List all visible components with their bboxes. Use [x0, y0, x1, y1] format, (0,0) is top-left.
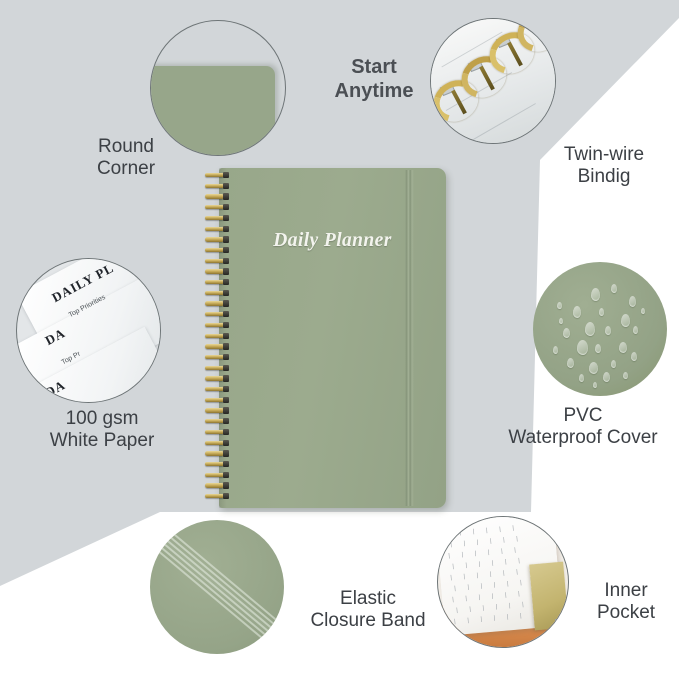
spiral-coil-wire	[205, 312, 224, 316]
spiral-coil-clip	[223, 482, 229, 488]
spiral-coil	[205, 354, 231, 361]
page-grid-row: | | | | | |	[452, 558, 525, 570]
spiral-coil-clip	[223, 322, 229, 328]
spiral-coil-clip	[223, 365, 229, 371]
spiral-coil-wire	[205, 227, 224, 231]
water-droplet-icon	[557, 302, 562, 309]
spiral-coil-wire	[205, 280, 224, 284]
spiral-coil-clip	[223, 183, 229, 189]
page-grid-row: | | | | | |	[450, 536, 523, 548]
spiral-coil-clip	[223, 226, 229, 232]
water-droplet-icon	[559, 318, 563, 324]
water-droplet-icon	[641, 308, 645, 314]
spiral-coil-wire	[205, 387, 224, 391]
label-elastic-closure-band: Elastic Closure Band	[290, 588, 446, 633]
spiral-coil	[205, 333, 231, 340]
water-droplet-icon	[629, 296, 636, 307]
spiral-coil-wire	[205, 398, 224, 402]
water-droplet-icon	[573, 306, 581, 318]
water-droplet-icon	[611, 284, 617, 293]
page-grid-row: | | | | | |	[448, 547, 521, 559]
spiral-coil	[205, 300, 231, 307]
spiral-coil-wire	[205, 344, 224, 348]
spiral-coil-clip	[223, 493, 229, 499]
inner-pocket-inset: | | | | | || | | | | || | | | | || | | |…	[437, 516, 569, 648]
spiral-coil	[205, 397, 231, 404]
spiral-coil-clip	[223, 354, 229, 360]
spiral-coil	[205, 418, 231, 425]
product-feature-infographic: Daily Planner Round Corner Start Anytime…	[0, 0, 679, 674]
spiral-coil	[205, 472, 231, 479]
planner-notebook: Daily Planner	[205, 168, 446, 508]
spiral-coil-wire	[205, 334, 224, 338]
water-droplet-icon	[567, 358, 574, 368]
spiral-coil-wire	[205, 408, 224, 412]
spiral-coil-clip	[223, 343, 229, 349]
spiral-coil-clip	[223, 247, 229, 253]
water-droplet-icon	[631, 352, 637, 361]
spiral-coil	[205, 268, 231, 275]
spiral-coil-wire	[205, 291, 224, 295]
water-droplet-icon	[605, 326, 611, 335]
label-twin-wire-binding: Twin-wire Bindig	[536, 144, 672, 189]
pvc-waterproof-inset	[533, 262, 667, 396]
spiral-coil-clip	[223, 268, 229, 274]
spiral-coil-wire	[205, 194, 224, 198]
spiral-coil-wire	[205, 323, 224, 327]
spiral-coil-clip	[223, 333, 229, 339]
spiral-coil	[205, 258, 231, 265]
spiral-coil	[205, 493, 231, 500]
spiral-coil	[205, 482, 231, 489]
spiral-coil-wire	[205, 366, 224, 370]
spiral-coil	[205, 365, 231, 372]
spiral-coil-wire	[205, 205, 224, 209]
spiral-coil-wire	[205, 376, 224, 380]
spiral-coil-wire	[205, 301, 224, 305]
spiral-coil-wire	[205, 473, 224, 477]
spiral-coil-clip	[223, 407, 229, 413]
spiral-coil-wire	[205, 430, 224, 434]
spiral-coil-clip	[223, 375, 229, 381]
water-droplet-icon	[611, 360, 616, 368]
water-droplet-icon	[553, 346, 558, 354]
label-inner-pocket: Inner Pocket	[576, 580, 676, 625]
water-droplet-icon	[621, 314, 630, 327]
spiral-coil-wire	[205, 216, 224, 220]
spiral-coil-clip	[223, 418, 229, 424]
label-start-anytime: Start Anytime	[318, 56, 430, 103]
water-droplet-icon	[599, 308, 604, 316]
notebook-elastic-band	[405, 170, 414, 506]
label-round-corner: Round Corner	[66, 136, 186, 181]
page-grid-row: | | | | | |	[446, 525, 519, 537]
spiral-coil-clip	[223, 461, 229, 467]
spiral-coil-clip	[223, 429, 229, 435]
spiral-coil-clip	[223, 172, 229, 178]
page-grid-row: | | | | | |	[452, 591, 525, 603]
water-droplet-icon	[623, 372, 628, 379]
water-droplet-icon	[579, 374, 584, 382]
spiral-coil-wire	[205, 184, 224, 188]
spiral-coil-clip	[223, 397, 229, 403]
spiral-coil-clip	[223, 279, 229, 285]
water-droplet-icon	[591, 288, 600, 301]
spiral-coil-wire	[205, 419, 224, 423]
label-white-paper: 100 gsm White Paper	[18, 408, 186, 453]
spiral-coil	[205, 236, 231, 243]
spiral-coil	[205, 172, 231, 179]
spiral-coil-wire	[205, 494, 224, 498]
spiral-coil-wire	[205, 259, 224, 263]
spiral-coil	[205, 386, 231, 393]
spiral-coil-clip	[223, 472, 229, 478]
spiral-coil-clip	[223, 193, 229, 199]
notebook-spiral-binding-icon	[205, 172, 231, 504]
spiral-coil	[205, 204, 231, 211]
spiral-coil	[205, 429, 231, 436]
spiral-coil-clip	[223, 440, 229, 446]
spiral-coil-clip	[223, 290, 229, 296]
spiral-coil-clip	[223, 215, 229, 221]
spiral-coil-wire	[205, 451, 224, 455]
spiral-coil-clip	[223, 386, 229, 392]
page-grid-row: | | | | | |	[456, 602, 529, 614]
spiral-coil-wire	[205, 483, 224, 487]
spiral-coil	[205, 183, 231, 190]
spiral-coil	[205, 193, 231, 200]
spiral-coil	[205, 226, 231, 233]
page-grid-row: | | | | | |	[450, 569, 523, 581]
spiral-coil	[205, 279, 231, 286]
water-droplet-icon	[589, 362, 598, 374]
page-grid-row: | | | | | |	[454, 580, 527, 592]
spiral-coil	[205, 311, 231, 318]
water-droplet-icon	[619, 342, 627, 353]
label-pvc-waterproof-cover: PVC Waterproof Cover	[490, 405, 676, 450]
elastic-band-inset	[150, 520, 284, 654]
water-droplet-icon	[595, 344, 601, 353]
spiral-coil-clip	[223, 204, 229, 210]
water-droplet-icon	[585, 322, 595, 336]
water-droplet-icon	[593, 382, 597, 388]
spiral-coil-wire	[205, 237, 224, 241]
spiral-coil-clip	[223, 311, 229, 317]
spiral-coil-wire	[205, 173, 224, 177]
spiral-coil	[205, 461, 231, 468]
water-droplet-icon	[577, 340, 588, 355]
water-droplet-icon	[563, 328, 570, 338]
spiral-coil-wire	[205, 269, 224, 273]
spiral-coil	[205, 215, 231, 222]
twin-wire-inset	[430, 18, 556, 144]
spiral-coil	[205, 450, 231, 457]
water-droplet-icon	[603, 372, 610, 382]
spiral-coil-wire	[205, 462, 224, 466]
spiral-coil-wire	[205, 441, 224, 445]
page-grid-row: | | | | | |	[454, 613, 527, 625]
spiral-coil-wire	[205, 355, 224, 359]
spiral-coil	[205, 375, 231, 382]
spiral-coil-clip	[223, 300, 229, 306]
pocket-tag-icon	[555, 619, 564, 627]
water-droplet-icon	[633, 326, 638, 334]
spiral-coil	[205, 322, 231, 329]
spiral-coil	[205, 290, 231, 297]
spiral-coil-wire	[205, 248, 224, 252]
spiral-coil	[205, 440, 231, 447]
spiral-coil	[205, 343, 231, 350]
spiral-coil	[205, 407, 231, 414]
white-paper-inset: DAILY PL Top Priorities DA Top Pr DA	[16, 258, 161, 403]
spiral-coil-clip	[223, 236, 229, 242]
spiral-coil-clip	[223, 258, 229, 264]
spiral-coil-clip	[223, 450, 229, 456]
spiral-coil	[205, 247, 231, 254]
